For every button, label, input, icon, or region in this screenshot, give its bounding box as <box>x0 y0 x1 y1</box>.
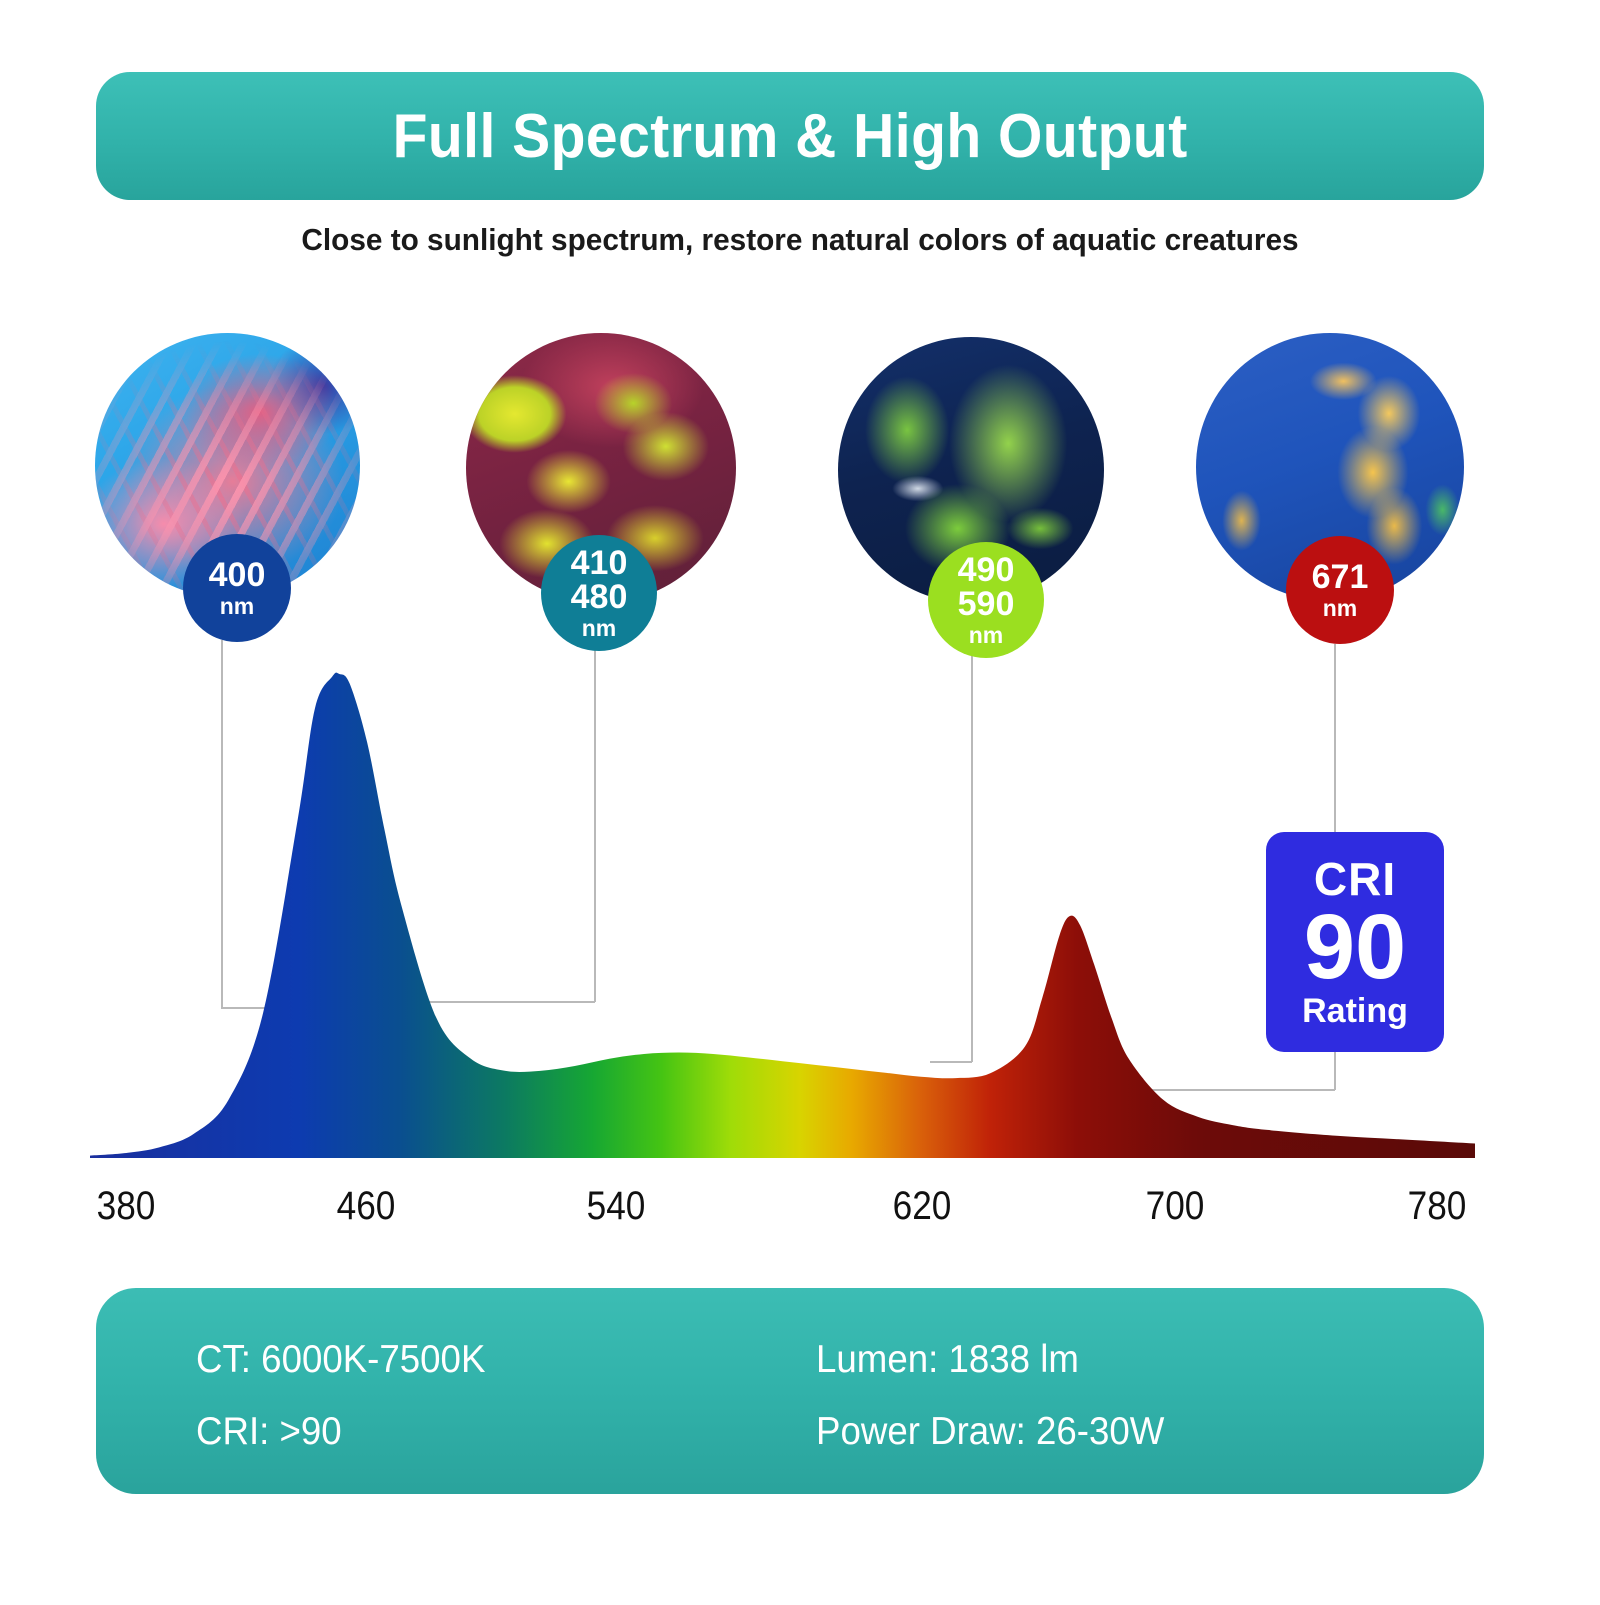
wavelength-unit: nm <box>582 617 617 640</box>
wavelength-value: 671 <box>1312 560 1369 594</box>
wavelength-badge-490-590[interactable]: 490 590 nm <box>928 542 1044 658</box>
axis-tick-380: 380 <box>97 1184 156 1229</box>
axis-tick-540: 540 <box>587 1184 646 1229</box>
spec-power: Power Draw: 26-30W <box>816 1410 1164 1454</box>
cri-value: 90 <box>1304 904 1406 991</box>
wavelength-value-primary: 490 <box>958 553 1015 587</box>
header-banner: Full Spectrum & High Output <box>96 72 1484 200</box>
specs-panel: CT: 6000K-7500K CRI: >90 Lumen: 1838 lm … <box>96 1288 1484 1494</box>
wavelength-value-secondary: 590 <box>958 587 1015 621</box>
header-subtitle: Close to sunlight spectrum, restore natu… <box>32 222 1568 258</box>
wavelength-badge-410-480[interactable]: 410 480 nm <box>541 535 657 651</box>
page-title: Full Spectrum & High Output <box>392 101 1187 172</box>
axis-tick-460: 460 <box>337 1184 396 1229</box>
leader-line-badge-400-horizontal <box>221 1007 339 1009</box>
wavelength-value-primary: 410 <box>571 546 628 580</box>
x-axis: 380 460 540 620 700 780 <box>0 1184 1600 1240</box>
wavelength-badge-671[interactable]: 671 nm <box>1286 536 1394 644</box>
wavelength-value: 400 <box>209 558 266 592</box>
axis-tick-780: 780 <box>1408 1184 1467 1229</box>
leader-line-badge-410-480-horizontal <box>398 1001 595 1003</box>
leader-line-badge-490-590-vertical <box>971 654 973 1062</box>
wavelength-unit: nm <box>1323 597 1358 620</box>
cri-sub-label: Rating <box>1302 994 1408 1028</box>
infographic-root: Full Spectrum & High Output Close to sun… <box>0 0 1600 1600</box>
axis-tick-620: 620 <box>893 1184 952 1229</box>
cri-rating-badge[interactable]: CRI 90 Rating <box>1266 832 1444 1052</box>
spec-ct: CT: 6000K-7500K <box>196 1338 485 1382</box>
leader-line-badge-671-horizontal <box>1096 1089 1335 1091</box>
spec-cri: CRI: >90 <box>196 1410 342 1454</box>
spec-lumen: Lumen: 1838 lm <box>816 1338 1079 1382</box>
wavelength-unit: nm <box>969 624 1004 647</box>
wavelength-unit: nm <box>220 595 255 618</box>
axis-tick-700: 700 <box>1146 1184 1205 1229</box>
leader-line-badge-400-vertical <box>221 640 223 1008</box>
leader-line-badge-490-590-horizontal <box>930 1061 972 1063</box>
wavelength-value-secondary: 480 <box>571 580 628 614</box>
wavelength-badge-400[interactable]: 400 nm <box>183 534 291 642</box>
leader-line-badge-410-480-vertical <box>594 648 596 1002</box>
